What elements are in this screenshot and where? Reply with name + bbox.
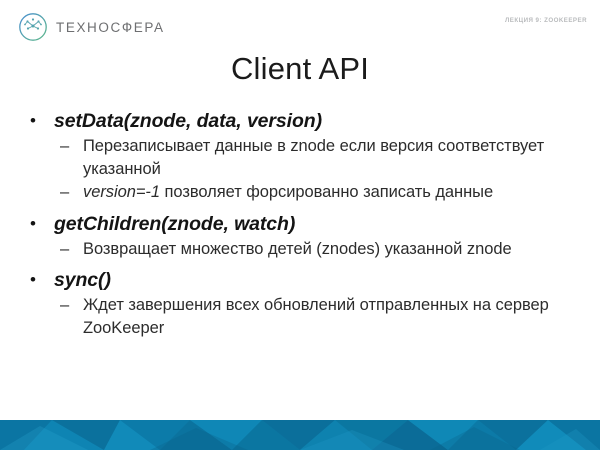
- dash-marker-icon: –: [60, 135, 69, 158]
- bullet-heading: • setData(znode, data, version): [22, 108, 586, 134]
- bullet-group: • sync() – Ждет завершения всех обновлен…: [22, 267, 586, 339]
- bullet-marker-icon: •: [30, 267, 36, 293]
- bullet-group: • setData(znode, data, version) – Переза…: [22, 108, 586, 204]
- bullet-marker-icon: •: [30, 108, 36, 134]
- sub-bullet-text: Перезаписывает данные в znode если верси…: [83, 137, 544, 178]
- sub-bullet: – version=-1 позволяет форсированно запи…: [22, 181, 586, 204]
- page-title: Client API: [0, 50, 600, 88]
- slide-body: • setData(znode, data, version) – Переза…: [22, 108, 586, 346]
- technosphere-network-circle-icon: [18, 12, 48, 42]
- brand-name: ТЕХНОСФЕРА: [56, 20, 165, 35]
- sub-bullet-emphasis: version=-1: [83, 183, 160, 201]
- dash-marker-icon: –: [60, 238, 69, 261]
- sub-bullet-text: Возвращает множество детей (znodes) указ…: [83, 240, 512, 258]
- sub-bullet: – Перезаписывает данные в znode если вер…: [22, 135, 586, 180]
- brand-logo: ТЕХНОСФЕРА: [18, 12, 165, 42]
- footer-band: [0, 420, 600, 450]
- bullet-heading-text: setData(znode, data, version): [54, 110, 322, 132]
- sub-bullet-text: Ждет завершения всех обновлений отправле…: [83, 296, 549, 337]
- bullet-marker-icon: •: [30, 211, 36, 237]
- bullet-heading-text: getChildren(znode, watch): [54, 213, 295, 235]
- sub-bullet: – Возвращает множество детей (znodes) ук…: [22, 238, 586, 261]
- lecture-tag: ЛЕКЦИЯ 9: ZOOKEEPER: [505, 17, 587, 24]
- slide: ТЕХНОСФЕРА ЛЕКЦИЯ 9: ZOOKEEPER Client AP…: [0, 0, 600, 450]
- bullet-heading: • sync(): [22, 267, 586, 293]
- bullet-heading-text: sync(): [54, 269, 111, 291]
- dash-marker-icon: –: [60, 294, 69, 317]
- bullet-heading: • getChildren(znode, watch): [22, 211, 586, 237]
- sub-bullet: – Ждет завершения всех обновлений отправ…: [22, 294, 586, 339]
- dash-marker-icon: –: [60, 181, 69, 204]
- bullet-group: • getChildren(znode, watch) – Возвращает…: [22, 211, 586, 261]
- sub-bullet-text: позволяет форсированно записать данные: [160, 183, 493, 201]
